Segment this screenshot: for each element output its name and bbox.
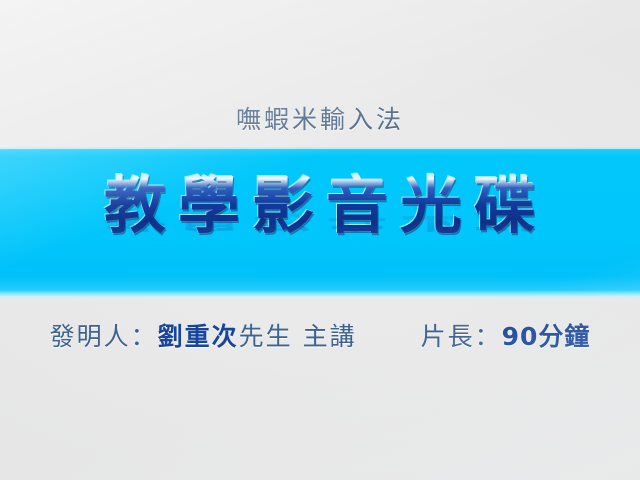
inventor-label: 發明人： — [50, 317, 158, 353]
dvd-title-screen: 嘸蝦米輸入法 教學影音光碟 教學影音光碟 教學影音光碟 發明人：劉重次 先生 主… — [0, 0, 640, 480]
inventor-name: 劉重次 — [158, 317, 239, 353]
product-subtitle: 嘸蝦米輸入法 — [0, 101, 640, 135]
band-bottom-fade — [0, 290, 640, 297]
inventor-suffix: 先生 主講 — [239, 317, 357, 353]
duration-value: 90分鐘 — [502, 317, 591, 353]
duration-label: 片長： — [421, 317, 502, 353]
main-title-reflection: 教學影音光碟 — [92, 198, 548, 232]
band-top-highlight-line — [0, 147, 640, 149]
credits-line: 發明人：劉重次 先生 主講 片長：90分鐘 — [0, 313, 640, 357]
title-block: 教學影音光碟 教學影音光碟 教學影音光碟 — [0, 173, 640, 297]
cyan-title-band: 教學影音光碟 教學影音光碟 教學影音光碟 — [0, 147, 640, 297]
